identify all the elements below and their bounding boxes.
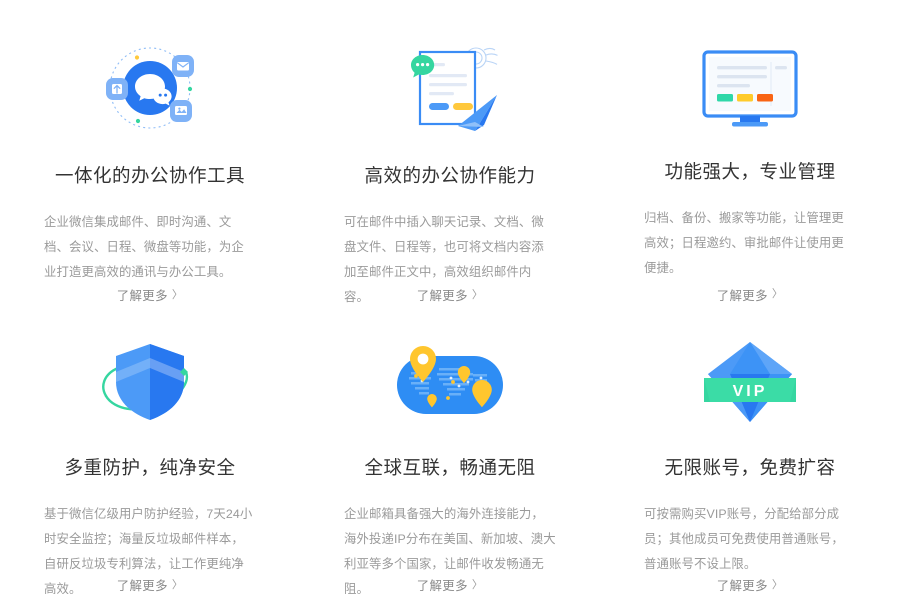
learn-more-link[interactable]: 了解更多 〉 [117,286,184,304]
learn-more-label: 了解更多 [717,576,768,594]
card-title: 无限账号，免费扩容 [664,454,835,480]
card-description: 归档、备份、搬家等功能，让管理更高效；日程邀约、审批邮件让使用更便捷。 [644,206,856,281]
shield-orbit-icon [75,334,225,430]
chevron-right-icon: 〉 [472,290,483,301]
card-desc-wrap: 企业微信集成邮件、即时沟通、文档、会议、日程、微盘等功能，为企业打造更高效的通讯… [44,188,256,272]
learn-more-link[interactable]: 了解更多 〉 [417,576,484,594]
learn-more-link[interactable]: 了解更多 〉 [117,576,184,594]
card-title: 一体化的办公协作工具 [55,162,245,188]
chevron-right-icon: 〉 [472,580,483,591]
chat-bubbles-orbit-icon [75,38,225,138]
document-paperplane-icon [375,38,525,138]
feature-card-global-network: 全球互联，畅通无阻 企业邮箱具备强大的海外连接能力，海外投递IP分布在美国、新加… [300,304,600,594]
feature-card-security: 多重防护，纯净安全 基于微信亿级用户防护经验，7天24小时安全监控；海量反垃圾邮… [0,304,300,594]
chevron-right-icon: 〉 [172,580,183,591]
card-desc-wrap: 基于微信亿级用户防护经验，7天24小时安全监控；海量反垃圾邮件样本，自研反垃圾专… [44,480,256,562]
learn-more-link[interactable]: 了解更多 〉 [717,576,784,594]
learn-more-label: 了解更多 [417,576,468,594]
card-title: 全球互联，畅通无阻 [364,454,535,480]
features-grid: 一体化的办公协作工具 企业微信集成邮件、即时沟通、文档、会议、日程、微盘等功能，… [0,0,900,594]
feature-card-unlimited-accounts: VIP 无限账号，免费扩容 可按需购买VIP账号，分配给部分成员；其他成员可免费… [600,304,900,594]
card-title: 多重防护，纯净安全 [64,454,235,480]
feature-card-collaboration-ability: 高效的办公协作能力 可在邮件中插入聊天记录、文档、微盘文件、日程等，也可将文档内… [300,14,600,304]
learn-more-link[interactable]: 了解更多 〉 [717,286,784,304]
card-desc-wrap: 可按需购买VIP账号，分配给部分成员；其他成员可免费使用普通账号，普通账号不设上… [644,480,856,562]
learn-more-link[interactable]: 了解更多 〉 [417,286,484,304]
feature-card-collaboration-tool: 一体化的办公协作工具 企业微信集成邮件、即时沟通、文档、会议、日程、微盘等功能，… [0,14,300,304]
chevron-right-icon: 〉 [172,290,183,301]
learn-more-label: 了解更多 [117,286,168,304]
monitor-dashboard-icon [675,38,825,134]
card-title: 功能强大，专业管理 [664,158,835,184]
world-map-pins-icon [375,334,525,430]
learn-more-label: 了解更多 [117,576,168,594]
card-title: 高效的办公协作能力 [364,162,535,188]
card-desc-wrap: 企业邮箱具备强大的海外连接能力，海外投递IP分布在美国、新加坡、澳大利亚等多个国… [344,480,556,562]
learn-more-label: 了解更多 [417,286,468,304]
chevron-right-icon: 〉 [772,580,783,591]
card-desc-wrap: 归档、备份、搬家等功能，让管理更高效；日程邀约、审批邮件让使用更便捷。 [644,184,856,272]
learn-more-label: 了解更多 [717,286,768,304]
feature-card-management: 功能强大，专业管理 归档、备份、搬家等功能，让管理更高效；日程邀约、审批邮件让使… [600,14,900,304]
vip-diamond-icon: VIP [675,334,825,430]
vip-badge-text: VIP [733,383,768,400]
card-desc-wrap: 可在邮件中插入聊天记录、文档、微盘文件、日程等，也可将文档内容添加至邮件正文中，… [344,188,556,272]
chevron-right-icon: 〉 [772,289,783,300]
